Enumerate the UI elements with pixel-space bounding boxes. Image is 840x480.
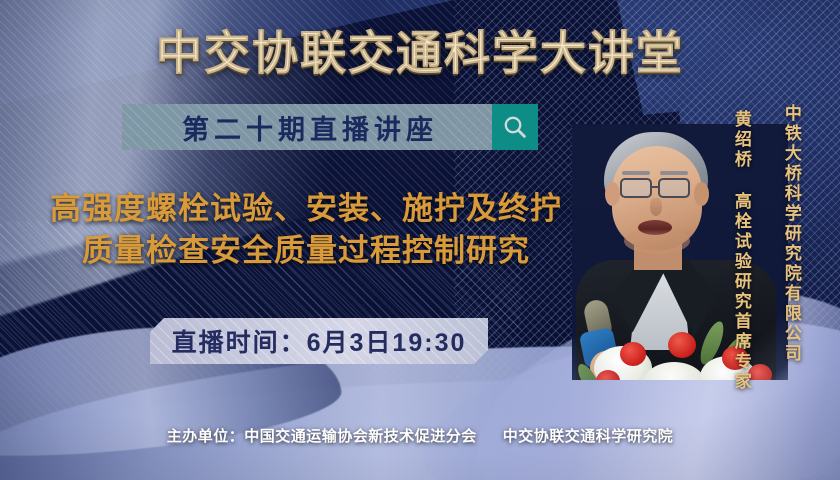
speaker-company: 中铁大桥科学研究院有限公司 <box>782 104 800 364</box>
speaker-glasses-bridge <box>651 186 660 188</box>
search-icon <box>502 114 528 140</box>
footer-organizer-label: 主办单位： <box>167 428 245 445</box>
poster-headline: 中交协联交通科学大讲堂 <box>0 17 840 83</box>
footer-organizers: 主办单位：中国交通运输协会新技术促进分会中交协联交通科学研究院 <box>0 425 840 446</box>
search-button[interactable] <box>492 104 538 150</box>
footer-organizer-2: 中交协联交通科学研究院 <box>503 428 674 445</box>
live-time-badge: 直播时间：6月3日19:30 <box>150 318 488 364</box>
speaker-eyebrow-left <box>622 171 650 175</box>
speaker-eyebrow-right <box>660 171 688 175</box>
lecture-title: 高强度螺栓试验、安装、施拧及终拧 质量检查安全质量过程控制研究 <box>6 188 606 272</box>
speaker-ear-left <box>605 182 620 206</box>
lecture-title-line-1: 高强度螺栓试验、安装、施拧及终拧 <box>50 191 562 226</box>
speaker-glasses-left <box>620 178 652 198</box>
live-time-text: 直播时间：6月3日19:30 <box>172 323 467 359</box>
flower-rose-1 <box>620 342 646 366</box>
episode-banner-fill: 第二十期直播讲座 <box>122 104 492 150</box>
flower-rose-5 <box>748 364 772 380</box>
episode-label: 第二十期直播讲座 <box>176 108 438 147</box>
speaker-ear-right <box>694 182 709 206</box>
lecture-title-line-2: 质量检查安全质量过程控制研究 <box>6 230 606 272</box>
speaker-nose <box>650 198 662 216</box>
footer-organizer-1: 中国交通运输协会新技术促进分会 <box>244 428 477 445</box>
speaker-photo <box>572 124 788 380</box>
speaker-name-title: 黄绍桥 高栓试验研究首席专家 <box>732 110 750 392</box>
speaker-glasses-right <box>658 178 690 198</box>
speaker-mouth <box>638 220 672 235</box>
live-lecture-poster: 中交协联交通科学大讲堂 第二十期直播讲座 高强度螺栓试验、安装、施拧及终拧 质量… <box>0 0 840 480</box>
episode-banner: 第二十期直播讲座 <box>122 104 538 150</box>
flower-rose-2 <box>668 332 696 358</box>
